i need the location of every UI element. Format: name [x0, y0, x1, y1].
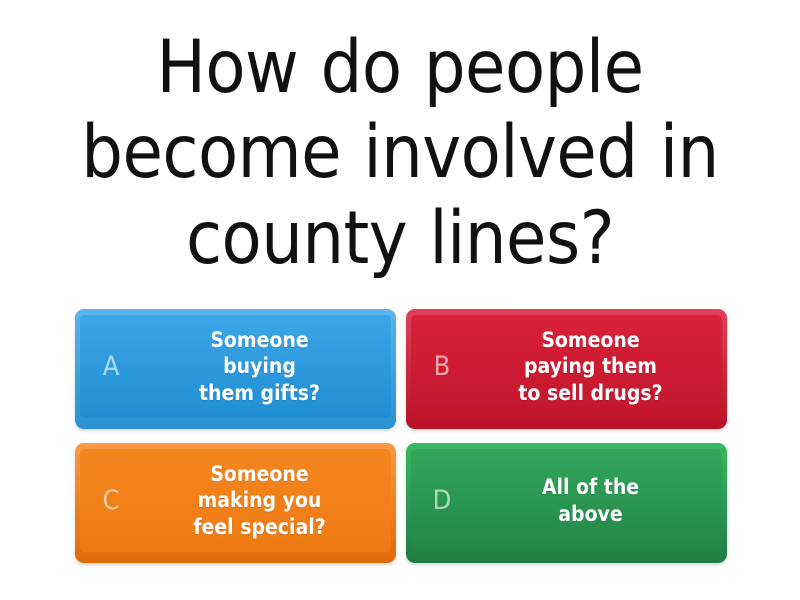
answer-content-b: B Someone paying them to sell drugs? — [410, 327, 723, 405]
answer-option-b[interactable]: B Someone paying them to sell drugs? — [406, 309, 727, 429]
answer-label-c: Someone making you feel special? — [143, 461, 392, 539]
answer-label-b: Someone paying them to sell drugs? — [474, 327, 723, 405]
answer-letter-c: C — [79, 487, 143, 514]
question-text: How do people become involved in county … — [60, 25, 740, 281]
answer-content-d: D All of the above — [410, 474, 723, 526]
answer-label-a: Someone buying them gifts? — [143, 327, 392, 405]
answer-letter-d: D — [410, 487, 474, 514]
answers-grid: A Someone buying them gifts? B Someone p… — [75, 309, 727, 563]
question-area: How do people become involved in county … — [0, 0, 800, 300]
answer-option-d[interactable]: D All of the above — [406, 443, 727, 563]
answers-area: A Someone buying them gifts? B Someone p… — [0, 300, 800, 600]
answer-label-d: All of the above — [474, 474, 723, 526]
answer-content-c: C Someone making you feel special? — [79, 461, 392, 539]
answer-letter-a: A — [79, 353, 143, 380]
quiz-stage: How do people become involved in county … — [0, 0, 800, 600]
answer-letter-b: B — [410, 353, 474, 380]
answer-option-a[interactable]: A Someone buying them gifts? — [75, 309, 396, 429]
answer-option-c[interactable]: C Someone making you feel special? — [75, 443, 396, 563]
answer-content-a: A Someone buying them gifts? — [79, 327, 392, 405]
